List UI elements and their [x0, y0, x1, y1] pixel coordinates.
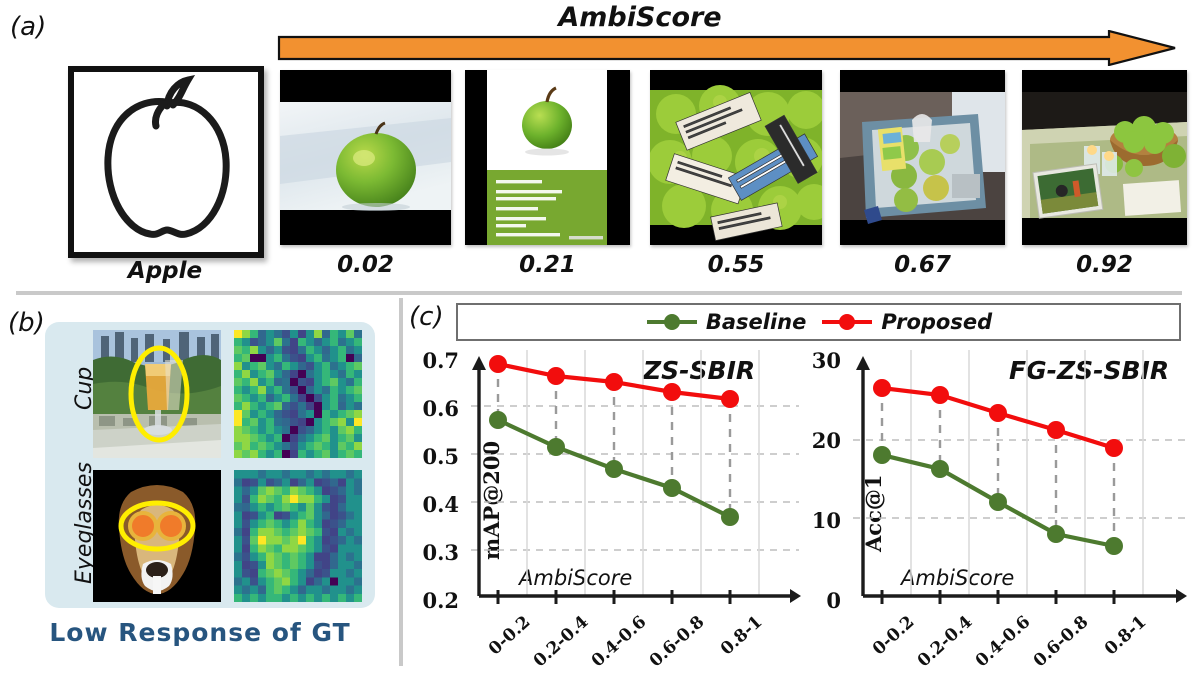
legend-marker-proposed — [820, 312, 874, 332]
chart-1-plot — [465, 344, 803, 610]
gallery-score-3: 0.55 — [650, 252, 822, 278]
legend-item-baseline[interactable]: Baseline — [645, 310, 807, 334]
chart-legend: Baseline Proposed — [456, 303, 1181, 341]
gallery-image-4 — [840, 70, 1005, 245]
gallery-score-1: 0.02 — [280, 252, 451, 278]
panel-b-caption: Low Response of GT — [0, 618, 400, 647]
ytick-1-2: 0.4 — [411, 492, 459, 517]
gallery-item-4[interactable]: 0.67 — [840, 70, 1005, 245]
ytick-2-1: 10 — [797, 508, 841, 533]
gallery-score-4: 0.67 — [840, 252, 1005, 278]
panel-b-heatmap-cup — [234, 330, 362, 458]
gallery-item-3[interactable]: 0.55 — [650, 70, 822, 245]
ambiscore-axis-title: AmbiScore — [520, 2, 760, 33]
panel-b: (b) Cup Eyeglasses — [0, 294, 400, 670]
query-label: Apple — [60, 258, 270, 284]
gallery-image-3 — [650, 70, 822, 245]
figure-root: (a) AmbiScore Apple — [0, 0, 1193, 670]
gallery-item-1[interactable]: 0.02 — [280, 70, 451, 245]
panel-b-tag: (b) — [8, 308, 45, 338]
gallery-image-2 — [465, 70, 630, 245]
ytick-1-5: 0.7 — [411, 348, 459, 373]
panel-c-tag: (c) — [409, 302, 444, 332]
gallery-image-1 — [280, 70, 451, 245]
panel-b-photo-eyeglasses — [93, 470, 221, 602]
ytick-1-4: 0.6 — [411, 396, 459, 421]
gallery-item-2[interactable]: 0.21 — [465, 70, 630, 245]
ytick-1-0: 0.2 — [411, 588, 459, 613]
legend-item-proposed[interactable]: Proposed — [820, 310, 992, 334]
query-sketch-box — [68, 66, 264, 258]
ytick-1-1: 0.3 — [411, 540, 459, 565]
ytick-2-2: 20 — [797, 428, 841, 453]
panel-b-photo-cup — [93, 330, 221, 458]
gallery-image-5 — [1022, 70, 1187, 245]
gallery-score-5: 0.92 — [1022, 252, 1187, 278]
legend-marker-baseline — [645, 312, 699, 332]
chart-zs-sbir: ZS-SBIR 0.7 0.6 0.5 0.4 0.3 0.2 mAP@200 … — [411, 344, 803, 666]
ytick-1-3: 0.5 — [411, 444, 459, 469]
panel-a-tag: (a) — [10, 12, 46, 42]
panel-b-heatmap-eyeglasses — [234, 470, 362, 602]
legend-label-baseline: Baseline — [706, 310, 807, 334]
gallery-item-5[interactable]: 0.92 — [1022, 70, 1187, 245]
ambiscore-arrow-icon — [277, 30, 1177, 66]
ytick-2-3: 30 — [797, 348, 841, 373]
panel-a: (a) AmbiScore Apple — [0, 0, 1193, 293]
panel-c: (c) Baseline Proposed ZS-SBIR 0.7 0 — [401, 294, 1193, 670]
legend-label-proposed: Proposed — [881, 310, 992, 334]
apple-sketch-icon — [74, 72, 258, 252]
ytick-2-0: 0 — [797, 588, 841, 613]
chart-fg-zs-sbir: FG-ZS-SBIR 30 20 10 0 Acc@1 AmbiScore — [797, 344, 1189, 666]
gallery-score-2: 0.21 — [465, 252, 630, 278]
chart-2-plot — [847, 344, 1189, 610]
